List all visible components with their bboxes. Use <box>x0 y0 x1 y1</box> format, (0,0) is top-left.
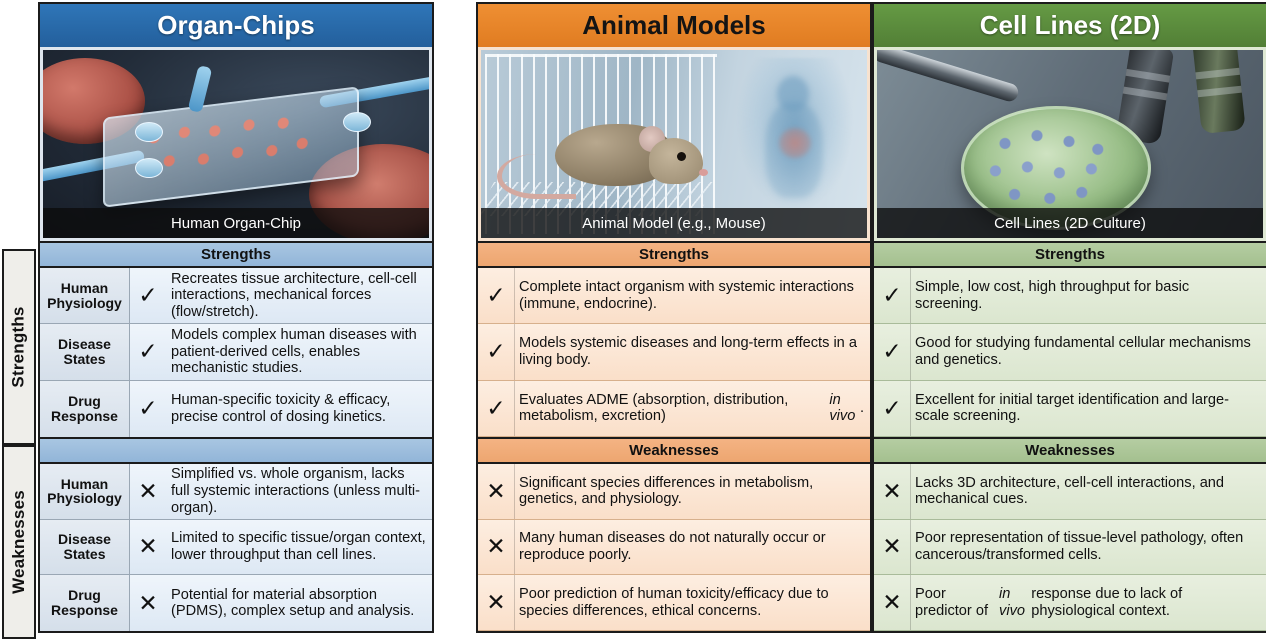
cell-text: Poor prediction of human toxicity/effica… <box>515 575 870 630</box>
cell-text: Excellent for initial target identificat… <box>911 381 1266 436</box>
mouse-eye-icon <box>677 152 686 161</box>
cell-text: Many human diseases do not naturally occ… <box>515 520 870 575</box>
check-icon: ✓ <box>874 324 911 379</box>
band-weaknesses-organ-chips <box>38 439 434 464</box>
chip-well-icon <box>135 158 163 178</box>
table-row: Disease States ✓ Models complex human di… <box>40 324 432 380</box>
column-organ-chips: Organ-Chips Human Organ-Chip Strengths <box>38 2 434 639</box>
rail-weaknesses-label: Weaknesses <box>9 490 29 594</box>
cell-text: Models systemic diseases and long-term e… <box>515 324 870 379</box>
table-row: Disease States ✕ Limited to specific tis… <box>40 520 432 576</box>
table-row: ✓ Complete intact organism with systemic… <box>478 268 870 324</box>
rail-weaknesses: Weaknesses <box>2 445 36 639</box>
microscope-objective-icon <box>1192 50 1245 134</box>
objective-ring <box>1197 86 1241 98</box>
cell-text: Good for studying fundamental cellular m… <box>911 324 1266 379</box>
cell-text: Potential for material absorption (PDMS)… <box>167 575 432 631</box>
table-row: ✕ Lacks 3D architecture, cell-cell inter… <box>874 464 1266 520</box>
caption-organ-chips: Human Organ-Chip <box>43 208 429 238</box>
band-strengths-organ-chips: Strengths <box>38 243 434 268</box>
aspect-drug-response: Drug Response <box>40 575 130 631</box>
cell-text: Simplified vs. whole organism, lacks ful… <box>167 464 432 519</box>
mouse-nose-icon <box>699 169 708 176</box>
objective-ring <box>1126 69 1171 83</box>
cross-icon: ✕ <box>478 464 515 519</box>
cross-icon: ✕ <box>478 520 515 575</box>
table-row: ✕ Poor prediction of human toxicity/effi… <box>478 575 870 631</box>
weaknesses-table-cell-lines: ✕ Lacks 3D architecture, cell-cell inter… <box>872 464 1266 633</box>
cell-lines-image: Cell Lines (2D Culture) <box>877 50 1263 238</box>
cell-text: Models complex human diseases with patie… <box>167 324 432 379</box>
cross-icon: ✕ <box>130 520 167 575</box>
chip-well-icon <box>343 112 371 132</box>
aspect-drug-response: Drug Response <box>40 381 130 437</box>
cell-text: Poor predictor of in vivo response due t… <box>911 575 1266 630</box>
table-row: ✓ Good for studying fundamental cellular… <box>874 324 1266 380</box>
band-strengths-cell-lines: Strengths <box>872 243 1266 268</box>
cross-icon: ✕ <box>478 575 515 630</box>
table-row: Human Physiology ✕ Simplified vs. whole … <box>40 464 432 520</box>
cell-text: Poor representation of tissue-level path… <box>911 520 1266 575</box>
cell-text: Recreates tissue architecture, cell-cell… <box>167 268 432 323</box>
organ-chip-image: Human Organ-Chip <box>43 50 429 238</box>
cell-text: Lacks 3D architecture, cell-cell interac… <box>911 464 1266 519</box>
check-icon: ✓ <box>874 381 911 436</box>
table-row: ✕ Many human diseases do not naturally o… <box>478 520 870 576</box>
cell-text: Evaluates ADME (absorption, distribution… <box>515 381 870 436</box>
comparison-figure: Strengths Weaknesses Organ-Chips Human O… <box>0 0 1266 641</box>
cross-icon: ✕ <box>874 520 911 575</box>
cross-icon: ✕ <box>874 575 911 630</box>
aspect-disease-states: Disease States <box>40 324 130 379</box>
column-cell-lines: Cell Lines (2D) Cell Lines (2D Culture) … <box>872 2 1266 639</box>
column-title-animal-models: Animal Models <box>476 2 872 47</box>
check-icon: ✓ <box>478 381 515 436</box>
objective-ring <box>1123 87 1168 101</box>
cell-text: Complete intact organism with systemic i… <box>515 268 870 323</box>
table-row: ✓ Evaluates ADME (absorption, distributi… <box>478 381 870 437</box>
caption-cell-lines: Cell Lines (2D Culture) <box>877 208 1263 238</box>
table-row: ✓ Simple, low cost, high throughput for … <box>874 268 1266 324</box>
animal-model-image: Animal Model (e.g., Mouse) <box>481 50 867 238</box>
aspect-human-physiology: Human Physiology <box>40 268 130 323</box>
check-icon: ✓ <box>130 324 167 379</box>
cross-icon: ✕ <box>130 575 167 631</box>
table-row: Drug Response ✓ Human-specific toxicity … <box>40 381 432 437</box>
cell-text: Human-specific toxicity & efficacy, prec… <box>167 381 432 437</box>
cell-text: Simple, low cost, high throughput for ba… <box>911 268 1266 323</box>
table-row: Drug Response ✕ Potential for material a… <box>40 575 432 631</box>
strengths-table-cell-lines: ✓ Simple, low cost, high throughput for … <box>872 268 1266 439</box>
check-icon: ✓ <box>478 324 515 379</box>
objective-ring <box>1195 68 1239 80</box>
photo-animal-models: Animal Model (e.g., Mouse) <box>476 47 872 243</box>
table-row: ✕ Poor representation of tissue-level pa… <box>874 520 1266 576</box>
strengths-table-organ-chips: Human Physiology ✓ Recreates tissue arch… <box>38 268 434 439</box>
aspect-disease-states: Disease States <box>40 520 130 575</box>
column-animal-models: Animal Models Animal Model (e.g., Mouse)… <box>476 2 872 639</box>
photo-organ-chips: Human Organ-Chip <box>38 47 434 243</box>
aspect-human-physiology: Human Physiology <box>40 464 130 519</box>
human-organ-icon <box>779 128 811 158</box>
table-row: Human Physiology ✓ Recreates tissue arch… <box>40 268 432 324</box>
rail-strengths-label: Strengths <box>9 306 29 387</box>
table-row: ✕ Poor predictor of in vivo response due… <box>874 575 1266 631</box>
photo-cell-lines: Cell Lines (2D Culture) <box>872 47 1266 243</box>
table-row: ✕ Significant species differences in met… <box>478 464 870 520</box>
row-label-rail: Strengths Weaknesses <box>2 249 36 639</box>
chip-well-icon <box>135 122 163 142</box>
check-icon: ✓ <box>478 268 515 323</box>
check-icon: ✓ <box>130 381 167 437</box>
weaknesses-table-organ-chips: Human Physiology ✕ Simplified vs. whole … <box>38 464 434 633</box>
cross-icon: ✕ <box>874 464 911 519</box>
strengths-table-animal-models: ✓ Complete intact organism with systemic… <box>476 268 872 439</box>
rail-strengths: Strengths <box>2 249 36 445</box>
check-icon: ✓ <box>130 268 167 323</box>
band-weaknesses-animal-models: Weaknesses <box>476 439 872 464</box>
band-strengths-animal-models: Strengths <box>476 243 872 268</box>
column-title-organ-chips: Organ-Chips <box>38 2 434 47</box>
mouse-head-icon <box>649 138 703 184</box>
caption-animal-models: Animal Model (e.g., Mouse) <box>481 208 867 238</box>
cultured-cells-icon <box>973 116 1133 214</box>
check-icon: ✓ <box>874 268 911 323</box>
table-row: ✓ Excellent for initial target identific… <box>874 381 1266 437</box>
cell-text: Significant species differences in metab… <box>515 464 870 519</box>
table-row: ✓ Models systemic diseases and long-term… <box>478 324 870 380</box>
column-title-cell-lines: Cell Lines (2D) <box>872 2 1266 47</box>
cell-text: Limited to specific tissue/organ context… <box>167 520 432 575</box>
band-weaknesses-cell-lines: Weaknesses <box>872 439 1266 464</box>
cross-icon: ✕ <box>130 464 167 519</box>
human-head-icon <box>777 76 809 112</box>
weaknesses-table-animal-models: ✕ Significant species differences in met… <box>476 464 872 633</box>
